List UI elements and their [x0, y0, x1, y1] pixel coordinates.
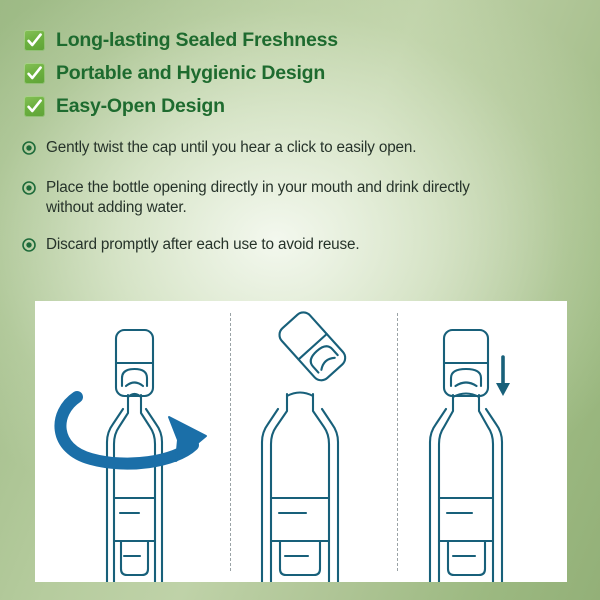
instruction-text: Gently twist the cap until you hear a cl… [46, 138, 416, 158]
press-cap-step [397, 301, 567, 582]
down-arrow-icon [496, 357, 510, 396]
instruction-list: Gently twist the cap until you hear a cl… [22, 138, 542, 275]
instruction-text: Place the bottle opening directly in you… [46, 178, 501, 217]
rotation-arrow-icon [60, 397, 206, 464]
instruction-item: Place the bottle opening directly in you… [22, 178, 542, 217]
feature-label: Easy-Open Design [56, 95, 225, 118]
feature-list: Long-lasting Sealed Freshness Portable a… [24, 24, 564, 123]
feature-label: Portable and Hygienic Design [56, 62, 325, 85]
panel-divider [230, 313, 231, 571]
check-square-icon [24, 63, 45, 84]
remove-cap-step [230, 301, 397, 582]
instruction-text: Discard promptly after each use to avoid… [46, 235, 360, 255]
panel-divider [397, 313, 398, 571]
instruction-item: Discard promptly after each use to avoid… [22, 235, 542, 257]
bottle-with-rotation-arrow-icon [35, 301, 230, 582]
feature-item: Long-lasting Sealed Freshness [24, 24, 564, 57]
check-square-icon [24, 30, 45, 51]
feature-item: Portable and Hygienic Design [24, 57, 564, 90]
feature-item: Easy-Open Design [24, 90, 564, 123]
radio-dot-icon [22, 181, 36, 200]
feature-label: Long-lasting Sealed Freshness [56, 29, 338, 52]
illustration-panel [35, 301, 567, 582]
instruction-item: Gently twist the cap until you hear a cl… [22, 138, 542, 160]
radio-dot-icon [22, 238, 36, 257]
twist-cap-step [35, 301, 230, 582]
check-square-icon [24, 96, 45, 117]
product-instruction-infographic: Long-lasting Sealed Freshness Portable a… [0, 0, 600, 600]
radio-dot-icon [22, 141, 36, 160]
bottle-with-tilted-cap-icon [230, 301, 397, 582]
bottle-with-down-arrow-icon [397, 301, 567, 582]
